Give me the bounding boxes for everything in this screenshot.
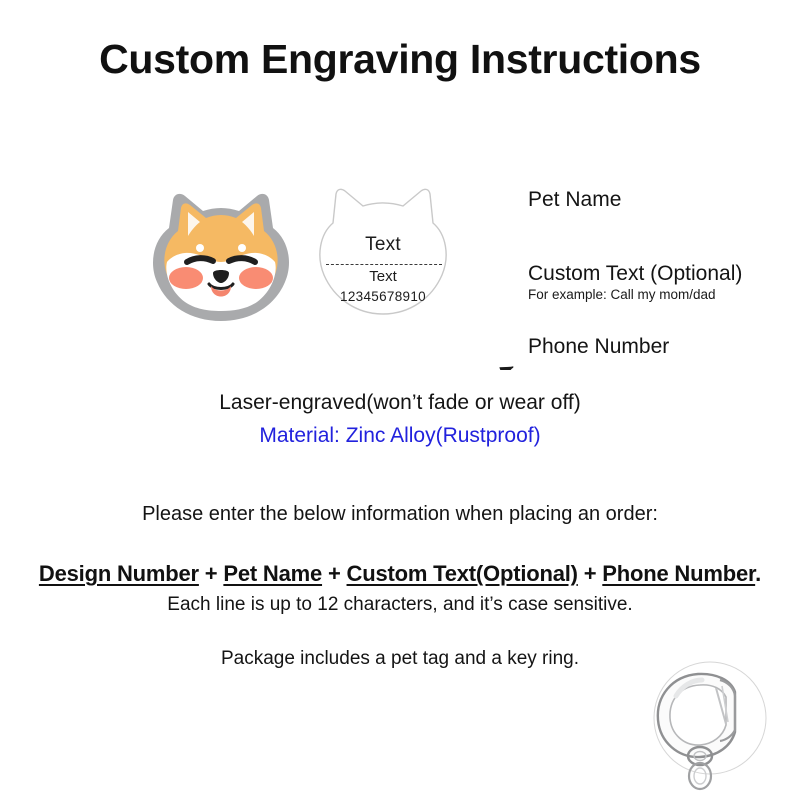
instruction-page: Custom Engraving Instructions	[0, 0, 800, 800]
formula-part-1: Design Number	[39, 561, 199, 586]
callout-sublabel-custom-text: For example: Call my mom/dad	[528, 287, 716, 302]
laser-engraved-note: Laser-engraved(won’t fade or wear off)	[0, 391, 800, 415]
arrow-pet-name	[436, 367, 513, 370]
engraving-diagram: Text Text 12345678910 Pet Name Custom Te…	[0, 170, 800, 370]
callout-label-phone-number: Phone Number	[528, 335, 669, 359]
material-note: Material: Zinc Alloy(Rustproof)	[0, 424, 800, 448]
order-prompt: Please enter the below information when …	[0, 503, 800, 526]
formula-part-2: Pet Name	[223, 561, 322, 586]
formula-separator: +	[322, 561, 346, 586]
character-limit-note: Each line is up to 12 characters, and it…	[0, 594, 800, 616]
formula-separator: +	[578, 561, 602, 586]
formula-separator: +	[199, 561, 223, 586]
callout-label-pet-name: Pet Name	[528, 188, 621, 212]
page-title: Custom Engraving Instructions	[0, 36, 800, 83]
callout-label-custom-text: Custom Text (Optional)	[528, 262, 742, 286]
formula-part-4: Phone Number	[602, 561, 755, 586]
formula-part-3: Custom Text(Optional)	[347, 561, 578, 586]
formula-terminator: .	[755, 561, 761, 586]
lobster-clasp-key-ring-icon	[636, 652, 784, 800]
order-formula: Design Number + Pet Name + Custom Text(O…	[0, 561, 800, 587]
